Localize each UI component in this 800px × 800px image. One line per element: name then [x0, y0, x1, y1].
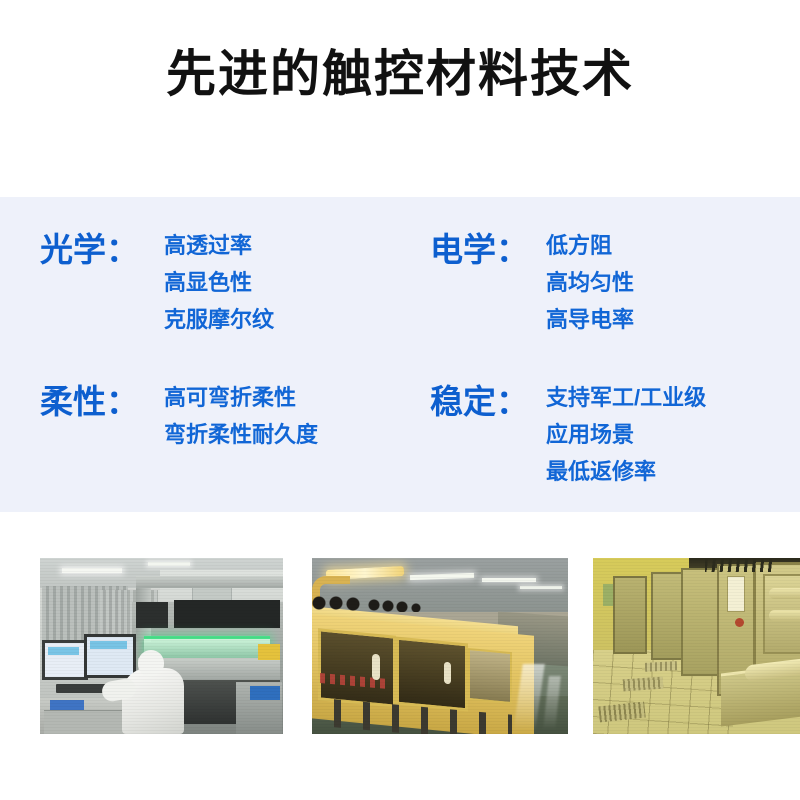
- spec-group-optical: 光学： 高透过率 高显色性 克服摩尔纹: [40, 225, 430, 377]
- spec-label-electrical: 电学：: [430, 225, 546, 266]
- spec-group-stability: 稳定： 支持军工/工业级 应用场景 最低返修率: [430, 377, 800, 483]
- spec-item: 克服摩尔纹: [164, 309, 274, 331]
- spec-item: 高均匀性: [546, 272, 634, 294]
- spec-item: 高导电率: [546, 309, 634, 331]
- spec-item: 弯折柔性耐久度: [164, 424, 318, 446]
- spec-item: 最低返修率: [546, 461, 706, 483]
- title-area: 先进的触控材料技术: [0, 0, 800, 197]
- spec-label-flexibility: 柔性：: [40, 377, 164, 418]
- photo-2-scene: [312, 558, 568, 734]
- spec-items-electrical: 低方阻 高均匀性 高导电率: [546, 225, 634, 331]
- spec-group-flexibility: 柔性： 高可弯折柔性 弯折柔性耐久度: [40, 377, 430, 483]
- poster-page: 先进的触控材料技术 光学： 高透过率 高显色性 克服摩尔纹 电学： 低方阻 高均…: [0, 0, 800, 800]
- photo-strip: [0, 542, 800, 718]
- page-title: 先进的触控材料技术: [166, 49, 634, 99]
- spec-item: 支持军工/工业级: [546, 387, 706, 409]
- spec-items-stability: 支持军工/工业级 应用场景 最低返修率: [546, 377, 706, 483]
- spec-item: 低方阻: [546, 235, 634, 257]
- spec-label-optical: 光学：: [40, 225, 164, 266]
- spec-items-flexibility: 高可弯折柔性 弯折柔性耐久度: [164, 377, 318, 446]
- spec-label-stability: 稳定：: [430, 377, 546, 418]
- specs-panel: 光学： 高透过率 高显色性 克服摩尔纹 电学： 低方阻 高均匀性 高导电率 柔性…: [0, 197, 800, 512]
- photo-cleanroom-corridor: [593, 558, 800, 734]
- photo-1-scene: [40, 558, 283, 734]
- photo-3-scene: [593, 558, 800, 734]
- spec-group-electrical: 电学： 低方阻 高均匀性 高导电率: [430, 225, 800, 377]
- spec-item: 高可弯折柔性: [164, 387, 318, 409]
- photo-cleanroom-inspection-station: [40, 558, 283, 734]
- spec-items-optical: 高透过率 高显色性 克服摩尔纹: [164, 225, 274, 331]
- spec-item: 高透过率: [164, 235, 274, 257]
- spec-item: 应用场景: [546, 424, 706, 446]
- photo-yellow-production-line: [312, 558, 568, 734]
- specs-grid: 光学： 高透过率 高显色性 克服摩尔纹 电学： 低方阻 高均匀性 高导电率 柔性…: [0, 225, 800, 483]
- spec-item: 高显色性: [164, 272, 274, 294]
